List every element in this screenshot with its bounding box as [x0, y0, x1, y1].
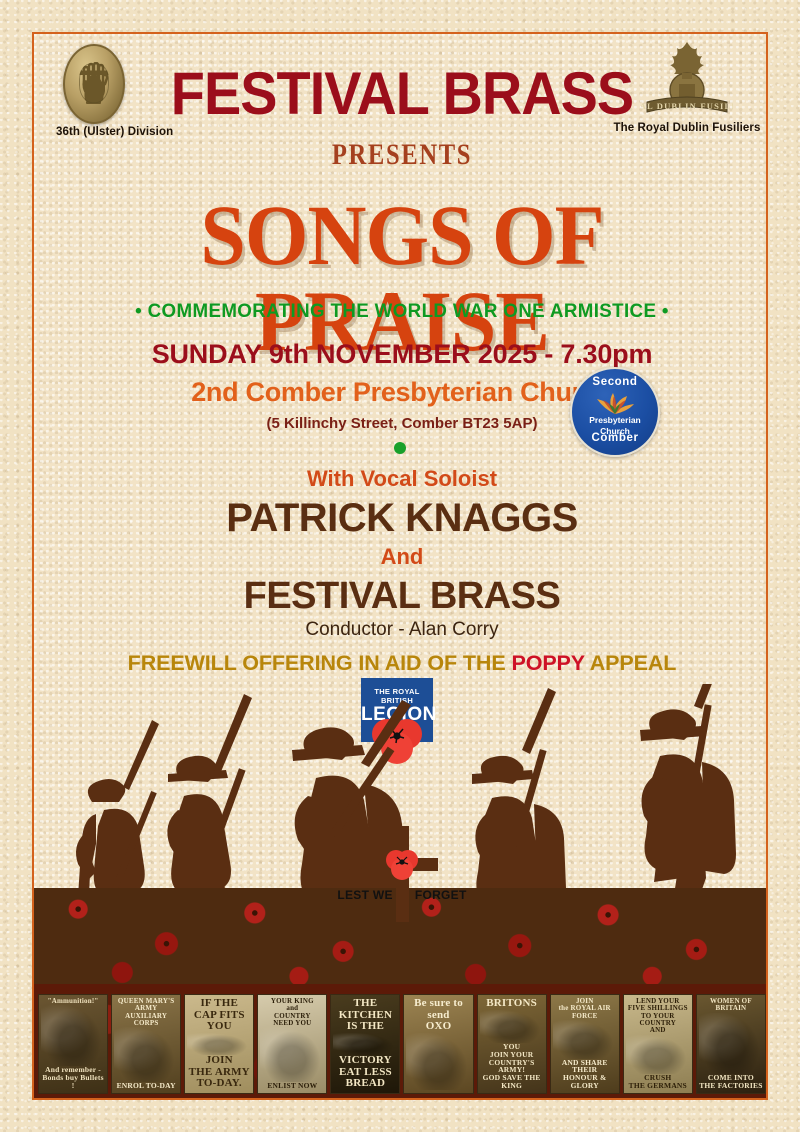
with-soloist-label: With Vocal Soloist	[34, 466, 768, 492]
vintage-poster-top-text: LEND YOURFIVE SHILLINGSTO YOUR COUNTRYAN…	[626, 998, 690, 1035]
forget-text: FORGET	[415, 888, 467, 902]
soloist-name: PATRICK KNAGGS	[34, 496, 768, 541]
church-logo-bottom-arc: Comber	[572, 432, 658, 444]
vintage-poster-bottom-text: ENLIST NOW	[260, 1082, 324, 1090]
vintage-poster-artwork	[260, 1027, 324, 1082]
vintage-poster-bottom-text: VICTORYEAT LESS BREAD	[333, 1055, 397, 1090]
poster-inner-frame: 36th (Ulster) Division ROYAL DUBLIN FUS	[32, 32, 768, 1100]
vintage-poster-item: Be sure to sendOXO	[403, 994, 473, 1094]
vintage-poster-artwork	[333, 1033, 397, 1056]
vintage-poster-bottom-text: ENROL TO-DAY	[114, 1082, 178, 1090]
vintage-poster-top-text: YOUR KINGandCOUNTRYNEED YOU	[260, 998, 324, 1027]
vintage-poster-top-text: THEKITCHENIS THE	[333, 998, 397, 1033]
lest-we-forget-text: LEST WEFORGET	[324, 888, 480, 902]
vintage-poster-top-text: QUEEN MARY'SARMY AUXILIARYCORPS	[114, 998, 178, 1027]
offering-highlight: POPPY	[511, 651, 584, 675]
green-divider-dot-icon	[394, 442, 406, 454]
commemoration-subtitle: • COMMEMORATING THE WORLD WAR ONE ARMIST…	[49, 300, 756, 323]
vintage-poster-top-text: JOINthe ROYAL AIR FORCE	[553, 998, 617, 1020]
vintage-poster-item: LEND YOURFIVE SHILLINGSTO YOUR COUNTRYAN…	[623, 994, 693, 1094]
vintage-poster-item: "Ammunition!" And remember -Bonds buy Bu…	[38, 994, 108, 1094]
memorial-cross	[352, 826, 452, 936]
vintage-poster-bottom-text: And remember -Bonds buy Bullets !	[41, 1066, 105, 1090]
church-logo: Second Presbyterian Church Comber	[570, 367, 660, 457]
soldiers-silhouette-scene: LEST WEFORGET	[34, 684, 768, 984]
vintage-poster-bottom-text: JOINTHE ARMYTO-DAY.	[187, 1055, 251, 1090]
vintage-poster-top-text: WOMEN OF BRITAIN	[699, 998, 763, 1013]
vintage-poster-item: QUEEN MARY'SARMY AUXILIARYCORPS ENROL TO…	[111, 994, 181, 1094]
poppy-icon	[384, 848, 420, 880]
offering-prefix: FREEWILL OFFERING IN AID OF THE	[128, 651, 512, 675]
vintage-poster-artwork	[187, 1033, 251, 1056]
band-name-performer: FESTIVAL BRASS	[34, 575, 768, 618]
poster-canvas: 36th (Ulster) Division ROYAL DUBLIN FUS	[0, 0, 800, 1132]
vintage-poster-artwork	[41, 1005, 105, 1066]
church-logo-line1: Presbyterian	[589, 415, 641, 425]
vintage-poster-bottom-text: AND SHARE THEIRHONOUR & GLORY	[553, 1059, 617, 1091]
vintage-poster-top-text: "Ammunition!"	[41, 998, 105, 1005]
vintage-poster-artwork	[406, 1033, 470, 1090]
ulster-badge-caption: 36th (Ulster) Division	[56, 126, 132, 138]
vintage-poster-item: IF THECAP FITSYOU JOINTHE ARMYTO-DAY.	[184, 994, 254, 1094]
freewill-offering-line: FREEWILL OFFERING IN AID OF THE POPPY AP…	[34, 651, 768, 676]
vintage-poster-item: THEKITCHENIS THE VICTORYEAT LESS BREAD	[330, 994, 400, 1094]
vintage-poster-top-text: Be sure to sendOXO	[406, 998, 470, 1033]
event-date-time: SUNDAY 9th NOVEMBER 2025 - 7.30pm	[34, 339, 768, 370]
vintage-poster-top-text: IF THECAP FITSYOU	[187, 998, 251, 1033]
vintage-poster-bottom-text: CRUSHTHE GERMANS	[626, 1074, 690, 1090]
vintage-poster-item: WOMEN OF BRITAIN COME INTOTHE FACTORIES	[696, 994, 766, 1094]
vintage-poster-strip: "Ammunition!" And remember -Bonds buy Bu…	[34, 994, 768, 1094]
vintage-poster-item: YOUR KINGandCOUNTRYNEED YOU ENLIST NOW	[257, 994, 327, 1094]
vintage-poster-artwork	[553, 1020, 617, 1058]
vintage-poster-artwork	[626, 1035, 690, 1075]
vintage-poster-artwork	[480, 1010, 544, 1043]
vintage-poster-artwork	[699, 1013, 763, 1075]
vintage-poster-artwork	[114, 1027, 178, 1082]
church-logo-top-arc: Second	[572, 376, 658, 388]
conductor-name: Conductor - Alan Corry	[34, 619, 768, 641]
vintage-poster-item: BRITONS YOUJOIN YOUR COUNTRY'S ARMY!GOD …	[477, 994, 547, 1094]
band-name-heading: FESTIVAL BRASS	[60, 64, 744, 124]
vintage-poster-top-text: BRITONS	[480, 998, 544, 1010]
vintage-poster-bottom-text: COME INTOTHE FACTORIES	[699, 1074, 763, 1090]
flame-leaf-icon	[592, 393, 638, 415]
presents-label: PRESENTS	[100, 138, 704, 172]
offering-suffix: APPEAL	[585, 651, 677, 675]
vintage-poster-item: JOINthe ROYAL AIR FORCE AND SHARE THEIRH…	[550, 994, 620, 1094]
poster-header: 36th (Ulster) Division ROYAL DUBLIN FUS	[34, 34, 768, 164]
vintage-poster-bottom-text: YOUJOIN YOUR COUNTRY'S ARMY!GOD SAVE THE…	[480, 1043, 544, 1090]
and-connector: And	[34, 544, 768, 570]
lest-we-text: LEST WE	[337, 888, 392, 902]
